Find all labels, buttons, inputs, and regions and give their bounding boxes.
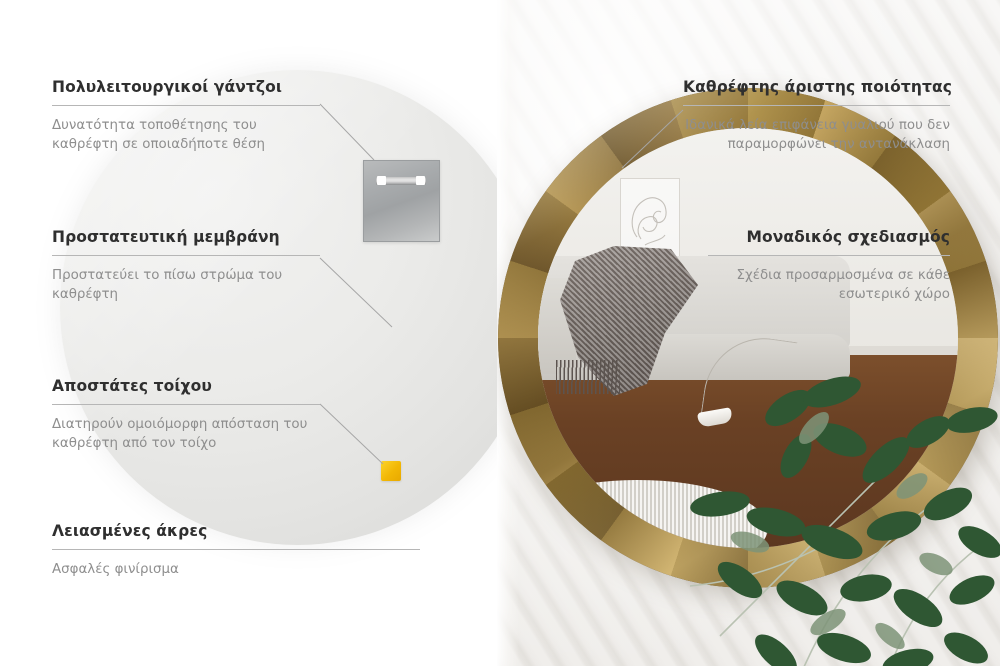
hook-plate xyxy=(363,160,440,242)
callout-design-rule xyxy=(708,255,950,256)
hook-slot xyxy=(376,177,426,185)
callout-quality-desc: Ιδανικά λεία επιφάνεια γυαλιού που δεν π… xyxy=(683,116,950,154)
callout-hooks: Πολυλειτουργικοί γάντζοι Δυνατότητα τοπο… xyxy=(52,78,320,154)
callout-edges-desc: Ασφαλές φινίρισμα xyxy=(52,560,420,579)
callout-spacers-title: Αποστάτες τοίχου xyxy=(52,377,320,395)
mirror-assembly xyxy=(498,88,998,588)
callout-membrane: Προστατευτική μεμβράνη Προστατεύει το πί… xyxy=(52,228,320,304)
callout-membrane-rule xyxy=(52,255,320,256)
callout-hooks-desc: Δυνατότητα τοποθέτησης του καθρέφτη σε ο… xyxy=(52,116,320,154)
callout-design: Μοναδικός σχεδιασμός Σχέδια προσαρμοσμέν… xyxy=(708,228,950,304)
callout-quality: Καθρέφτης άριστης ποιότητας Ιδανικά λεία… xyxy=(683,78,950,154)
callout-hooks-rule xyxy=(52,105,320,106)
callout-edges-rule xyxy=(52,549,420,550)
callout-spacers-rule xyxy=(52,404,320,405)
callout-spacers-desc: Διατηρούν ομοιόμορφη απόσταση του καθρέφ… xyxy=(52,415,320,453)
product-feature-infographic: Πολυλειτουργικοί γάντζοι Δυνατότητα τοπο… xyxy=(0,0,1000,666)
reflected-line-art-picture xyxy=(620,178,680,258)
wall-spacer xyxy=(381,461,401,481)
callout-hooks-title: Πολυλειτουργικοί γάντζοι xyxy=(52,78,320,96)
callout-design-desc: Σχέδια προσαρμοσμένα σε κάθε εσωτερικό χ… xyxy=(708,266,950,304)
callout-edges-title: Λειασμένες άκρες xyxy=(52,522,420,540)
callout-edges: Λειασμένες άκρες Ασφαλές φινίρισμα xyxy=(52,522,420,579)
callout-membrane-desc: Προστατεύει το πίσω στρώμα του καθρέφτη xyxy=(52,266,320,304)
mirror-frame-outer xyxy=(498,88,998,588)
callout-spacers: Αποστάτες τοίχου Διατηρούν ομοιόμορφη απ… xyxy=(52,377,320,453)
callout-membrane-title: Προστατευτική μεμβράνη xyxy=(52,228,320,246)
callout-quality-title: Καθρέφτης άριστης ποιότητας xyxy=(683,78,950,96)
mirror-glass-reflection xyxy=(538,128,958,548)
callout-quality-rule xyxy=(683,105,950,106)
callout-design-title: Μοναδικός σχεδιασμός xyxy=(708,228,950,246)
reflected-throw-fringe xyxy=(556,360,620,394)
